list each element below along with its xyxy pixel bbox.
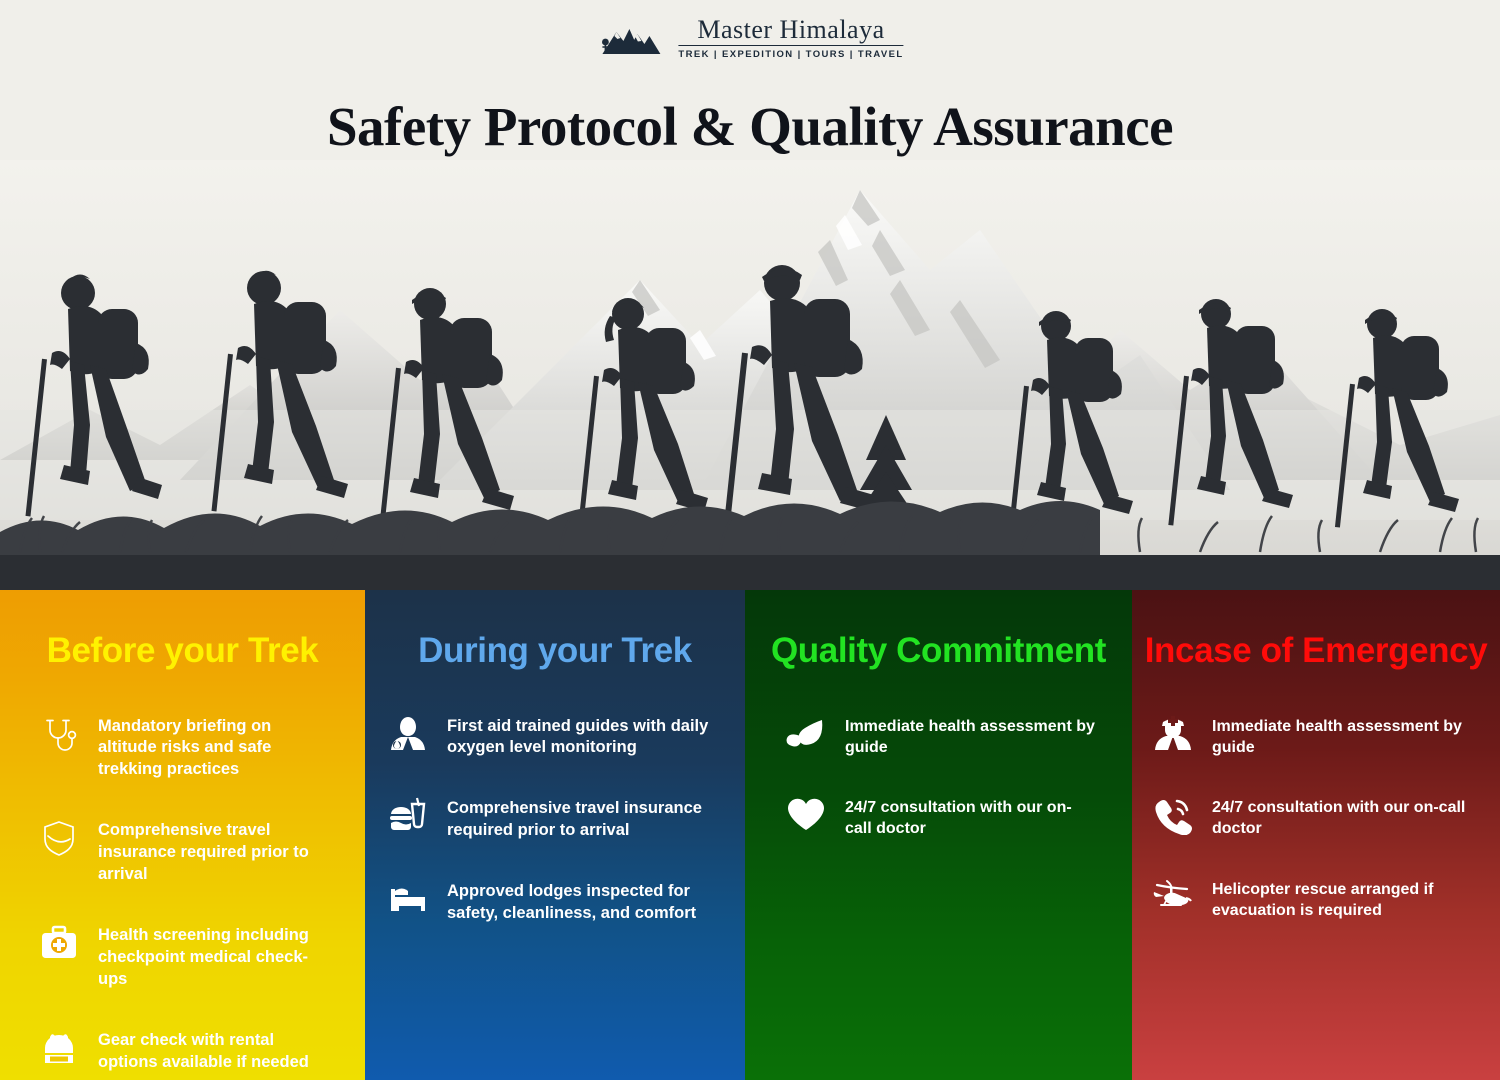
- list-item-text: Gear check with rental options available…: [98, 1027, 331, 1074]
- meal-icon: [387, 795, 429, 837]
- heart-icon: [785, 794, 827, 836]
- medical-kit-icon: [38, 922, 80, 964]
- brand-logo[interactable]: Master Himalaya TREK | EXPEDITION | TOUR…: [596, 14, 903, 62]
- list-item-text: Helicopter rescue arranged if evacuation…: [1212, 876, 1476, 922]
- list-item[interactable]: Comprehensive travel insurance required …: [365, 795, 745, 842]
- list-item[interactable]: Comprehensive travel insurance required …: [0, 817, 365, 886]
- column-item-list: First aid trained guides with daily oxyg…: [365, 713, 745, 926]
- list-item[interactable]: Approved lodges inspected for safety, cl…: [365, 878, 745, 925]
- leaf-icon: [785, 713, 827, 755]
- list-item[interactable]: First aid trained guides with daily oxyg…: [365, 713, 745, 760]
- list-item[interactable]: 24/7 consultation with our on-call docto…: [745, 794, 1132, 840]
- column-before-your-trek: Before your Trek Mandatory briefing on a…: [0, 590, 365, 1080]
- list-item-text: Immediate health assessment by guide: [845, 713, 1096, 759]
- helicopter-icon: [1152, 876, 1194, 918]
- list-item[interactable]: Helicopter rescue arranged if evacuation…: [1132, 876, 1500, 922]
- bed-icon: [387, 878, 429, 920]
- logo-divider: [678, 45, 903, 47]
- column-heading: Quality Commitment: [745, 632, 1132, 671]
- column-incase-of-emergency: Incase of Emergency Immediate health ass…: [1132, 590, 1500, 1080]
- hero-banner: [0, 160, 1500, 590]
- page-title: Safety Protocol & Quality Assurance: [0, 95, 1500, 158]
- list-item-text: First aid trained guides with daily oxyg…: [447, 713, 709, 760]
- column-item-list: Immediate health assessment by guide 24/…: [1132, 713, 1500, 922]
- list-item-text: 24/7 consultation with our on-call docto…: [845, 794, 1096, 840]
- list-item-text: Immediate health assessment by guide: [1212, 713, 1476, 759]
- column-during-your-trek: During your Trek First aid trained guide…: [365, 590, 745, 1080]
- column-quality-commitment: Quality Commitment Immediate health asse…: [745, 590, 1132, 1080]
- brand-name: Master Himalaya: [697, 16, 884, 43]
- shield-icon: [38, 817, 80, 859]
- column-heading: Before your Trek: [0, 632, 365, 671]
- backpack-icon: [38, 1027, 80, 1069]
- list-item[interactable]: Gear check with rental options available…: [0, 1027, 365, 1074]
- list-item-text: Mandatory briefing on altitude risks and…: [98, 713, 331, 782]
- nurse-icon: [1152, 713, 1194, 755]
- list-item[interactable]: Immediate health assessment by guide: [1132, 713, 1500, 759]
- list-item-text: Comprehensive travel insurance required …: [98, 817, 331, 886]
- mountain-logo-icon: [596, 14, 668, 62]
- doctor-icon: [387, 713, 429, 755]
- list-item-text: Health screening including checkpoint me…: [98, 922, 331, 991]
- page-header: Master Himalaya TREK | EXPEDITION | TOUR…: [0, 0, 1500, 170]
- list-item-text: Approved lodges inspected for safety, cl…: [447, 878, 709, 925]
- list-item-text: 24/7 consultation with our on-call docto…: [1212, 794, 1476, 840]
- brand-tagline: TREK | EXPEDITION | TOURS | TRAVEL: [678, 49, 903, 60]
- column-heading: During your Trek: [365, 632, 745, 671]
- list-item-text: Comprehensive travel insurance required …: [447, 795, 709, 842]
- info-columns: Before your Trek Mandatory briefing on a…: [0, 590, 1500, 1080]
- stethoscope-icon: [38, 713, 80, 755]
- list-item[interactable]: Mandatory briefing on altitude risks and…: [0, 713, 365, 782]
- column-heading: Incase of Emergency: [1132, 632, 1500, 671]
- list-item[interactable]: Immediate health assessment by guide: [745, 713, 1132, 759]
- list-item[interactable]: 24/7 consultation with our on-call docto…: [1132, 794, 1500, 840]
- phone-ringing-icon: [1152, 794, 1194, 836]
- column-item-list: Immediate health assessment by guide 24/…: [745, 713, 1132, 840]
- column-item-list: Mandatory briefing on altitude risks and…: [0, 713, 365, 1074]
- trekkers-silhouette-illustration: [0, 160, 1500, 590]
- list-item[interactable]: Health screening including checkpoint me…: [0, 922, 365, 991]
